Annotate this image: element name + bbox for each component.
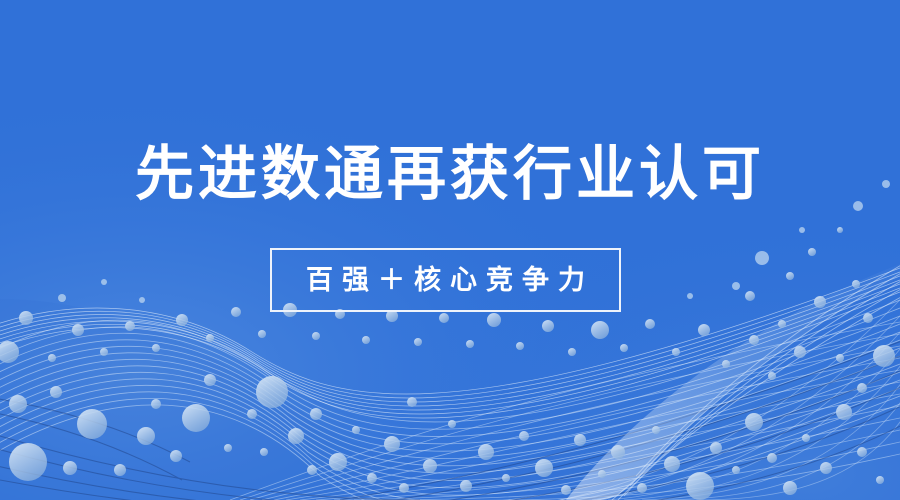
background-wave-decoration bbox=[0, 0, 900, 500]
promo-banner: 先进数通再获行业认可 百强＋核心竞争力 bbox=[0, 0, 900, 500]
